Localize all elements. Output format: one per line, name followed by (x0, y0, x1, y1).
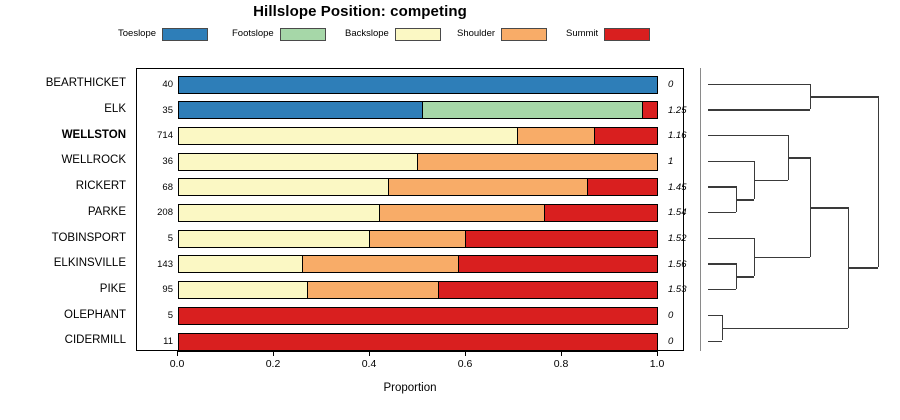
legend-item-shoulder: Shoulder (457, 26, 547, 42)
chart-row: 51.52 (137, 226, 685, 252)
series-label-cidermill: CIDERMILL (0, 328, 132, 354)
h-value: 0 (662, 72, 702, 98)
stacked-bar (178, 178, 658, 196)
x-axis-line (177, 351, 657, 352)
dendrogram-connector (878, 96, 879, 267)
stacked-bar (178, 230, 658, 248)
series-label-olephant: OLEPHANT (0, 302, 132, 328)
h-value: 1.16 (662, 123, 702, 149)
series-label-wellston: WELLSTON (0, 122, 132, 148)
legend-label: Summit (566, 29, 598, 39)
h-value: 1.45 (662, 174, 702, 200)
bar-segment-summit (595, 128, 657, 144)
bar-segment-backslope (179, 205, 380, 221)
x-tick-label: 0.0 (157, 358, 197, 370)
chart-row: 681.45 (137, 174, 685, 200)
bar-segment-backslope (179, 282, 308, 298)
dendrogram-branch (708, 84, 810, 85)
legend-item-backslope: Backslope (345, 26, 441, 42)
n-value: 95 (137, 277, 173, 303)
dendrogram-branch (708, 289, 736, 290)
bar-segment-shoulder (389, 179, 587, 195)
h-value: 1.52 (662, 226, 702, 252)
dendrogram-branch (810, 207, 848, 208)
legend-swatch-toeslope (162, 28, 208, 41)
series-label-wellrock: WELLROCK (0, 148, 132, 174)
n-value: 714 (137, 123, 173, 149)
stacked-bar (178, 76, 658, 94)
stacked-bar (178, 204, 658, 222)
dendrogram-branch (708, 109, 810, 110)
dendrogram-branch (708, 238, 754, 239)
bar-segment-summit (545, 205, 657, 221)
x-axis-title: Proportion (136, 382, 684, 394)
x-tick (177, 351, 178, 356)
h-value: 1 (662, 149, 702, 175)
chart-row: 2081.54 (137, 200, 685, 226)
legend-item-toeslope: Toeslope (118, 26, 208, 42)
dendrogram-branch (708, 263, 736, 264)
stacked-bar (178, 101, 658, 119)
x-tick-label: 0.8 (541, 358, 581, 370)
x-tick (561, 351, 562, 356)
legend-label: Shoulder (457, 29, 495, 39)
bar-segment-summit (459, 256, 657, 272)
bar-segment-summit (179, 308, 657, 324)
chart-row: 361 (137, 149, 685, 175)
h-value: 1.25 (662, 97, 702, 123)
dendrogram-branch (848, 267, 878, 268)
series-label-axis: BEARTHICKETELKWELLSTONWELLROCKRICKERTPAR… (0, 68, 132, 351)
bar-segment-backslope (179, 154, 418, 170)
chart-row: 400 (137, 72, 685, 98)
dendrogram-branch (722, 328, 848, 329)
bar-segment-summit (466, 231, 657, 247)
x-tick (465, 351, 466, 356)
n-value: 208 (137, 200, 173, 226)
bar-segment-shoulder (518, 128, 594, 144)
stacked-bar (178, 333, 658, 351)
dendrogram-branch (754, 180, 788, 181)
dendrogram-branch (708, 212, 736, 213)
bar-segment-summit (588, 179, 657, 195)
n-value: 36 (137, 149, 173, 175)
stacked-bar (178, 153, 658, 171)
chart-row: 1431.56 (137, 251, 685, 277)
chart-row: 50 (137, 303, 685, 329)
bar-segment-summit (439, 282, 656, 298)
x-tick (369, 351, 370, 356)
dendrogram-branch (754, 257, 810, 258)
x-tick-label: 1.0 (637, 358, 677, 370)
bar-segment-shoulder (418, 154, 657, 170)
bar-segment-footslope (423, 102, 643, 118)
x-tick (657, 351, 658, 356)
n-value: 5 (137, 303, 173, 329)
x-tick-label: 0.2 (253, 358, 293, 370)
legend-swatch-footslope (280, 28, 326, 41)
bar-segment-backslope (179, 128, 518, 144)
legend-swatch-summit (604, 28, 650, 41)
bar-segment-shoulder (308, 282, 439, 298)
n-value: 68 (137, 174, 173, 200)
legend-label: Footslope (232, 29, 274, 39)
dendrogram-branch (708, 186, 736, 187)
series-label-rickert: RICKERT (0, 173, 132, 199)
dendrogram-spine (700, 68, 701, 351)
bar-segment-backslope (179, 231, 370, 247)
stacked-bar (178, 281, 658, 299)
stacked-bar (178, 127, 658, 145)
stacked-bar-panel: 400351.257141.16361681.452081.5451.52143… (136, 68, 684, 351)
chart-row: 7141.16 (137, 123, 685, 149)
bar-segment-shoulder (370, 231, 466, 247)
x-axis: 0.00.20.40.60.81.0 (136, 351, 684, 381)
h-value: 1.53 (662, 277, 702, 303)
h-value: 1.56 (662, 251, 702, 277)
series-label-elk: ELK (0, 96, 132, 122)
legend-swatch-shoulder (501, 28, 547, 41)
bar-segment-summit (179, 334, 657, 350)
n-value: 143 (137, 251, 173, 277)
x-tick (273, 351, 274, 356)
legend-label: Backslope (345, 29, 389, 39)
legend-item-footslope: Footslope (232, 26, 326, 42)
dendrogram-branch (708, 161, 754, 162)
bar-segment-shoulder (303, 256, 458, 272)
h-value: 0 (662, 303, 702, 329)
dendrogram-branch (708, 341, 722, 342)
x-tick-label: 0.4 (349, 358, 389, 370)
series-label-parke: PARKE (0, 199, 132, 225)
x-tick-label: 0.6 (445, 358, 485, 370)
dendrogram-branch (736, 199, 754, 200)
bar-segment-backslope (179, 179, 389, 195)
n-value: 35 (137, 97, 173, 123)
chart-row: 351.25 (137, 97, 685, 123)
chart-title: Hillslope Position: competing (0, 3, 720, 20)
chart-row: 951.53 (137, 277, 685, 303)
legend-item-summit: Summit (566, 26, 650, 42)
series-label-tobinsport: TOBINSPORT (0, 225, 132, 251)
bar-segment-summit (643, 102, 657, 118)
stacked-bar (178, 307, 658, 325)
legend-label: Toeslope (118, 29, 156, 39)
bar-segment-shoulder (380, 205, 545, 221)
stacked-bar (178, 255, 658, 273)
legend-swatch-backslope (395, 28, 441, 41)
bar-segment-backslope (179, 256, 303, 272)
bar-segment-toeslope (179, 77, 657, 93)
series-label-pike: PIKE (0, 276, 132, 302)
dendrogram-branch (736, 276, 754, 277)
legend: ToeslopeFootslopeBackslopeShoulderSummit (0, 26, 720, 42)
dendrogram-branch (788, 157, 810, 158)
dendrogram-branch (708, 135, 788, 136)
hillslope-position-figure: Hillslope Position: competing ToeslopeFo… (0, 0, 900, 420)
dendrogram (700, 68, 898, 351)
n-value: 5 (137, 226, 173, 252)
series-label-elkinsville: ELKINSVILLE (0, 250, 132, 276)
n-value: 40 (137, 72, 173, 98)
h-value: 1.54 (662, 200, 702, 226)
dendrogram-branch (810, 96, 878, 97)
series-label-bearthicket: BEARTHICKET (0, 71, 132, 97)
dendrogram-branch (708, 315, 722, 316)
bar-segment-toeslope (179, 102, 423, 118)
